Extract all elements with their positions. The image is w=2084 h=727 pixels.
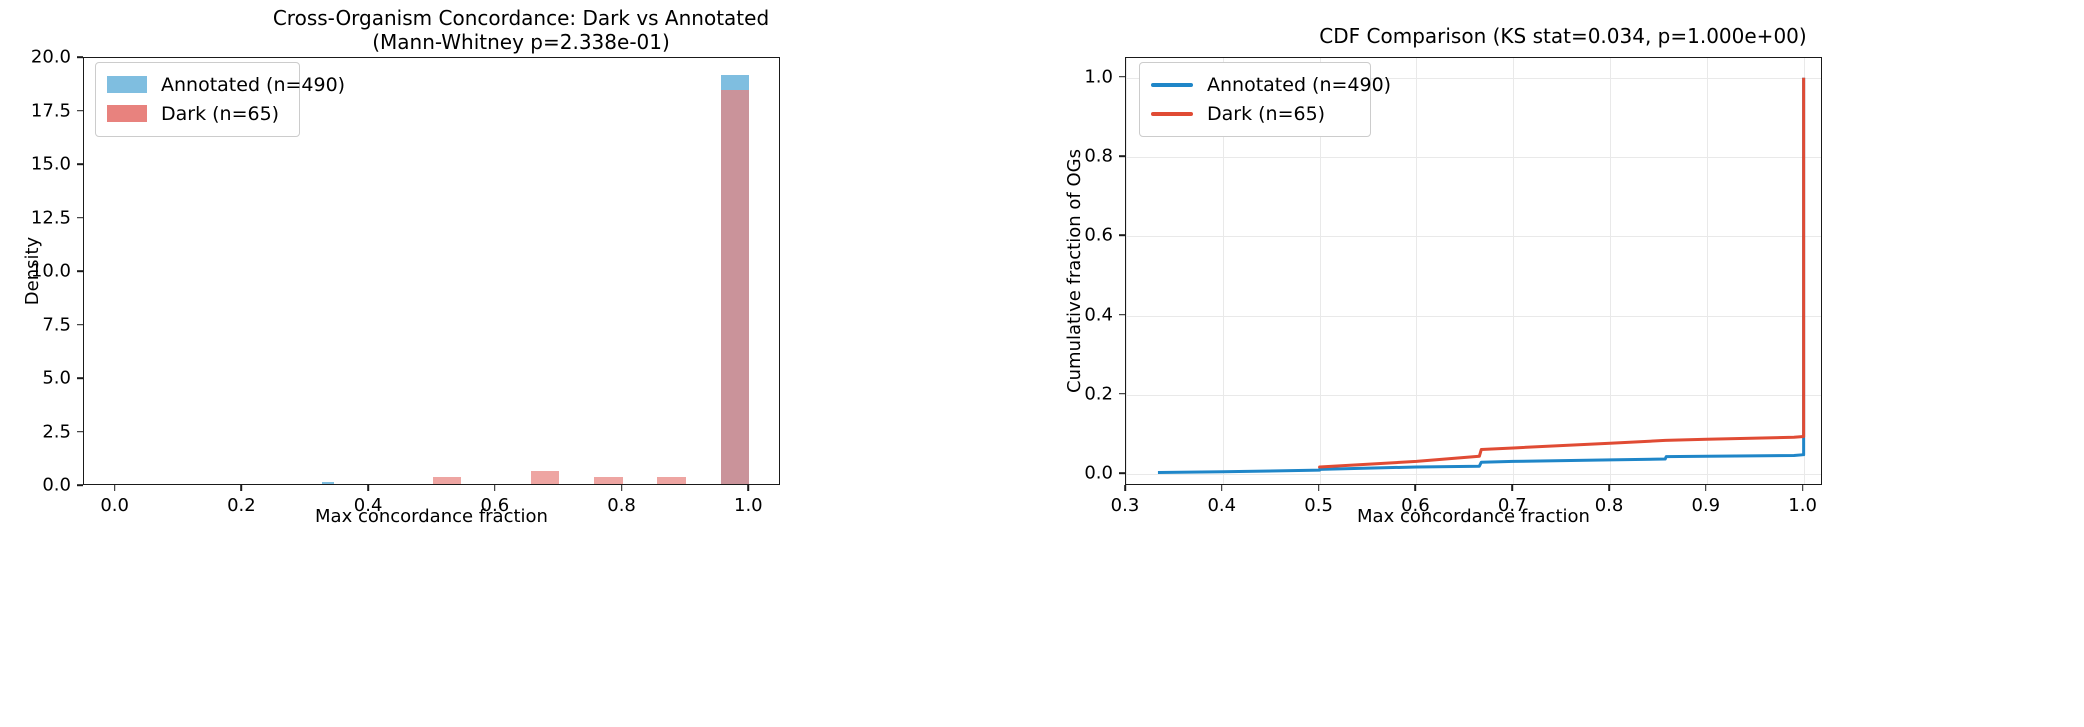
- left-ylabel: Density: [22, 237, 43, 305]
- right-xtick-mark: [1124, 485, 1126, 491]
- right-legend-item[interactable]: Dark (n=65): [1151, 99, 1359, 128]
- right-xtick-mark: [1802, 485, 1804, 491]
- right-panel-title: CDF Comparison (KS stat=0.034, p=1.000e+…: [1042, 24, 2084, 48]
- legend-line-icon: [1151, 83, 1193, 87]
- left-legend-item[interactable]: Dark (n=65): [107, 99, 288, 128]
- left-panel-title-line1: Cross-Organism Concordance: Dark vs Anno…: [0, 6, 1042, 30]
- left-ytick-mark: [77, 431, 83, 433]
- right-ytick-mark: [1119, 393, 1125, 395]
- right-xtick-mark: [1221, 485, 1223, 491]
- legend-patch-icon: [107, 76, 147, 93]
- left-ytick-mark: [77, 484, 83, 486]
- left-ytick-label: 20.0: [0, 47, 71, 68]
- legend-patch-icon: [107, 105, 147, 122]
- right-legend-label: Annotated (n=490): [1207, 74, 1391, 96]
- left-legend-item[interactable]: Annotated (n=490): [107, 70, 288, 99]
- cdf-line: [1158, 78, 1804, 473]
- left-xtick-mark: [621, 485, 623, 491]
- left-ytick-label: 15.0: [0, 154, 71, 175]
- left-ytick-mark: [77, 56, 83, 58]
- left-ytick-mark: [77, 110, 83, 112]
- left-ytick-mark: [77, 163, 83, 165]
- right-ytick-label: 1.0: [1042, 66, 1113, 87]
- left-ytick-label: 2.5: [0, 421, 71, 442]
- cdf-line: [1320, 78, 1804, 468]
- histogram-bar: [594, 477, 623, 484]
- histogram-bar: [531, 471, 560, 484]
- right-ylabel: Cumulative fraction of OGs: [1064, 149, 1085, 393]
- histogram-bar: [433, 477, 462, 484]
- left-ytick-label: 7.5: [0, 314, 71, 335]
- histogram-bar: [322, 482, 335, 484]
- left-xlabel: Max concordance fraction: [83, 506, 780, 527]
- left-ytick-label: 17.5: [0, 100, 71, 121]
- left-xtick-mark: [494, 485, 496, 491]
- right-ytick-mark: [1119, 155, 1125, 157]
- histogram-bar: [721, 90, 750, 484]
- right-xtick-mark: [1511, 485, 1513, 491]
- right-legend-label: Dark (n=65): [1207, 103, 1325, 125]
- right-ytick-mark: [1119, 76, 1125, 78]
- right-panel: CDF Comparison (KS stat=0.034, p=1.000e+…: [1042, 0, 2084, 727]
- histogram-bar: [657, 477, 686, 484]
- left-xtick-mark: [114, 485, 116, 491]
- right-xtick-mark: [1318, 485, 1320, 491]
- left-legend-label: Dark (n=65): [161, 103, 279, 125]
- right-xtick-mark: [1608, 485, 1610, 491]
- left-legend-label: Annotated (n=490): [161, 74, 345, 96]
- right-ytick-mark: [1119, 472, 1125, 474]
- left-panel: Cross-Organism Concordance: Dark vs Anno…: [0, 0, 1042, 727]
- left-ytick-mark: [77, 324, 83, 326]
- left-ytick-label: 5.0: [0, 368, 71, 389]
- left-ytick-label: 12.5: [0, 207, 71, 228]
- left-ytick-mark: [77, 270, 83, 272]
- left-ytick-mark: [77, 217, 83, 219]
- right-xtick-mark: [1415, 485, 1417, 491]
- left-xtick-mark: [241, 485, 243, 491]
- right-xlabel: Max concordance fraction: [1125, 506, 1822, 527]
- left-ytick-mark: [77, 377, 83, 379]
- right-ytick-mark: [1119, 235, 1125, 237]
- right-legend[interactable]: Annotated (n=490)Dark (n=65): [1139, 62, 1371, 137]
- left-panel-title: Cross-Organism Concordance: Dark vs Anno…: [0, 6, 1042, 55]
- left-xtick-mark: [748, 485, 750, 491]
- right-ytick-label: 0.0: [1042, 463, 1113, 484]
- left-xtick-mark: [367, 485, 369, 491]
- left-panel-title-line2: (Mann-Whitney p=2.338e-01): [0, 30, 1042, 54]
- right-ytick-mark: [1119, 314, 1125, 316]
- figure-canvas: Cross-Organism Concordance: Dark vs Anno…: [0, 0, 2084, 727]
- legend-line-icon: [1151, 112, 1193, 116]
- left-ytick-label: 0.0: [0, 475, 71, 496]
- right-xtick-mark: [1705, 485, 1707, 491]
- left-legend[interactable]: Annotated (n=490)Dark (n=65): [95, 62, 300, 137]
- right-legend-item[interactable]: Annotated (n=490): [1151, 70, 1359, 99]
